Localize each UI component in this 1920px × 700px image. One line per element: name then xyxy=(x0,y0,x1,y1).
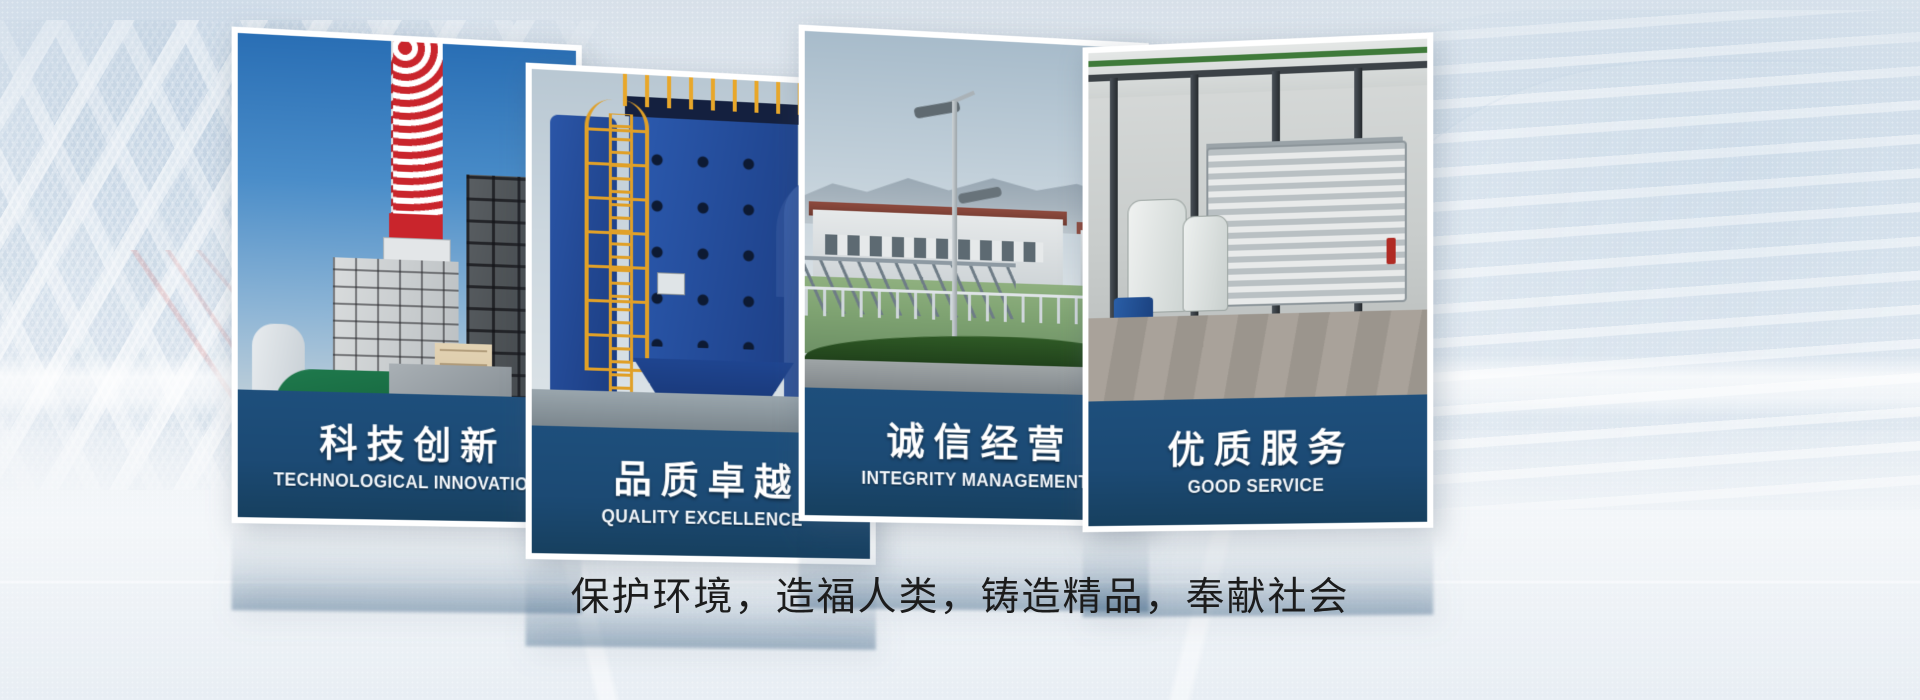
panel-4-photo xyxy=(1088,39,1427,402)
fire-extinguisher-icon xyxy=(1387,238,1396,264)
panel-good-service[interactable]: 优质服务 GOOD SERVICE xyxy=(1083,32,1434,532)
panel-3-title-cn: 诚信经营 xyxy=(877,422,1073,466)
dosing-tank-icon xyxy=(1128,198,1187,313)
panel-4-title-cn: 优质服务 xyxy=(1158,429,1354,472)
panel-3-title-en: INTEGRITY MANAGEMENT xyxy=(861,467,1089,494)
panel-4-title-en: GOOD SERVICE xyxy=(1188,474,1325,498)
panel-1-title-cn: 科技创新 xyxy=(310,424,506,468)
tiled-floor-icon xyxy=(1088,310,1427,402)
chimney-stack-icon xyxy=(391,33,443,227)
panel-group: 科技创新 TECHNOLOGICAL INNOVATION xyxy=(0,0,1920,580)
panel-1-title-en: TECHNOLOGICAL INNOVATION xyxy=(274,469,541,496)
company-tagline: 保护环境，造福人类，铸造精品，奉献社会 xyxy=(0,566,1920,622)
panel-2-title-cn: 品质卓越 xyxy=(604,460,800,504)
company-culture-banner: 科技创新 TECHNOLOGICAL INNOVATION xyxy=(0,0,1920,700)
ro-membrane-rack-icon xyxy=(1206,140,1406,307)
yellow-ladder-icon xyxy=(609,113,633,416)
panel-4-caption: 优质服务 GOOD SERVICE xyxy=(1088,394,1427,526)
panel-2-title-en: QUALITY EXCELLENCE xyxy=(602,505,803,531)
collector-valve-array-icon xyxy=(643,145,784,351)
dosing-tank-2-icon xyxy=(1183,215,1229,312)
control-box-icon xyxy=(657,272,685,295)
